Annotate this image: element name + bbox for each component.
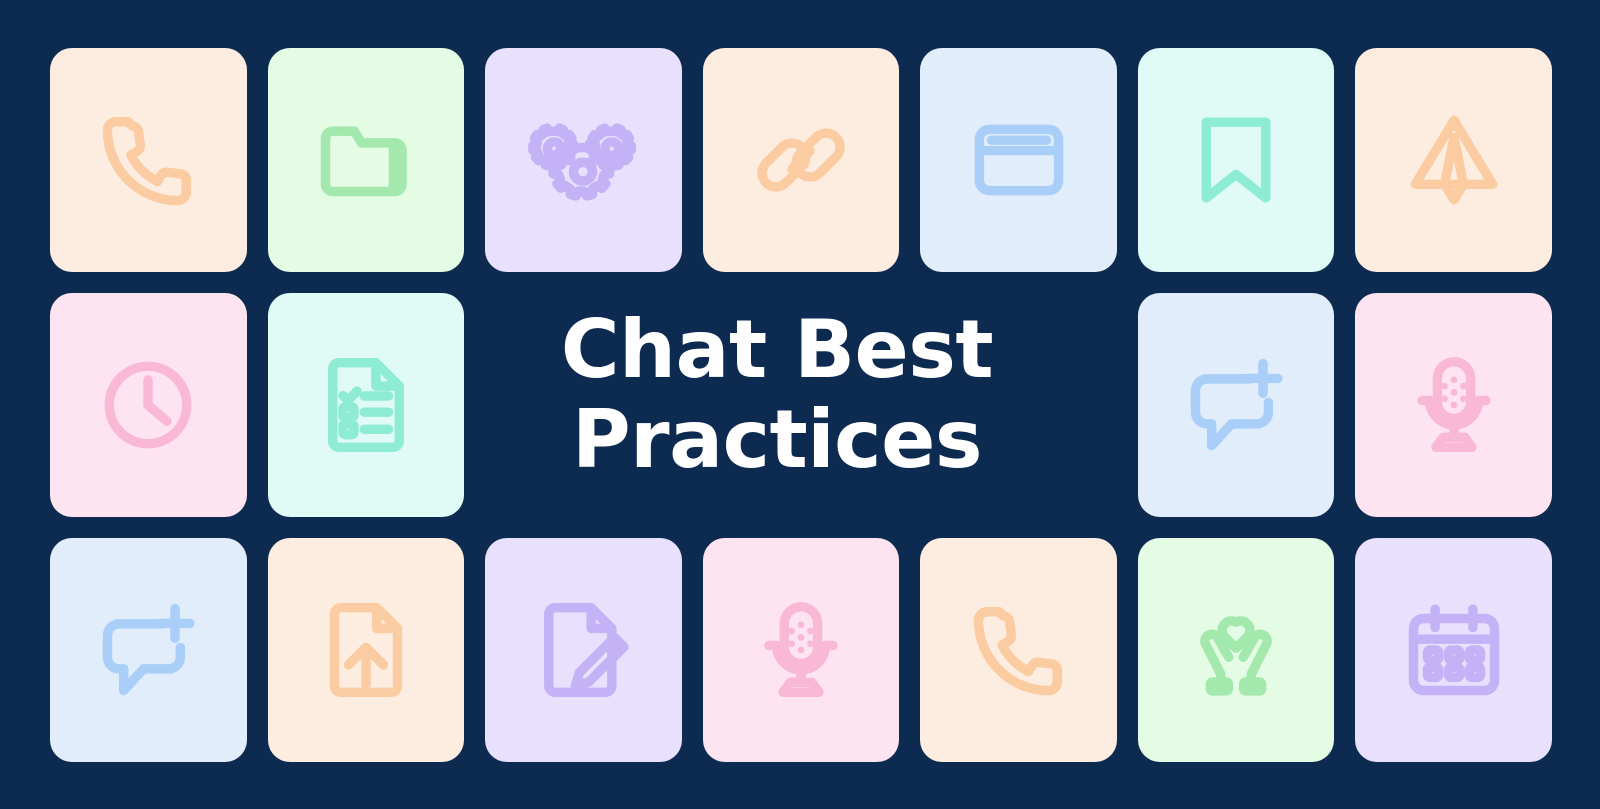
icon-tile-phone[interactable] [920,538,1117,762]
file-edit-icon [529,596,637,704]
icon-tile-link[interactable] [703,48,900,272]
headline-slot [920,293,1117,517]
icon-tile-clock[interactable] [50,293,247,517]
phone-icon [965,596,1073,704]
chat-add-icon [94,596,202,704]
icon-tile-phone[interactable] [50,48,247,272]
link-icon [747,106,855,214]
folder-icon [312,106,420,214]
banner-root: Chat Best Practices [0,0,1600,809]
icon-tile-chat-add[interactable] [1138,293,1335,517]
file-upload-icon [312,596,420,704]
icon-tile-file-edit[interactable] [485,538,682,762]
headline-slot [485,293,682,517]
icon-tile-calendar[interactable] [1355,538,1552,762]
microphone-icon [1400,351,1508,459]
icon-tile-microphone[interactable] [1355,293,1552,517]
browser-window-icon [965,106,1073,214]
icon-tile-bookmark[interactable] [1138,48,1335,272]
icon-tile-hands-heart[interactable] [1138,538,1335,762]
icon-tile-file-upload[interactable] [268,538,465,762]
icon-tile-browser-window[interactable] [920,48,1117,272]
icon-tile-paper-plane[interactable] [1355,48,1552,272]
chat-add-icon [1182,351,1290,459]
checklist-icon [312,351,420,459]
icon-tile-grid [50,48,1552,762]
phone-icon [94,106,202,214]
icon-tile-microphone[interactable] [703,538,900,762]
gears-icon [529,106,637,214]
microphone-icon [747,596,855,704]
icon-tile-folder[interactable] [268,48,465,272]
icon-tile-checklist[interactable] [268,293,465,517]
hands-heart-icon [1182,596,1290,704]
icon-tile-gears[interactable] [485,48,682,272]
icon-tile-chat-add[interactable] [50,538,247,762]
paper-plane-icon [1400,106,1508,214]
bookmark-icon [1182,106,1290,214]
headline-slot [703,293,900,517]
calendar-icon [1400,596,1508,704]
clock-icon [94,351,202,459]
